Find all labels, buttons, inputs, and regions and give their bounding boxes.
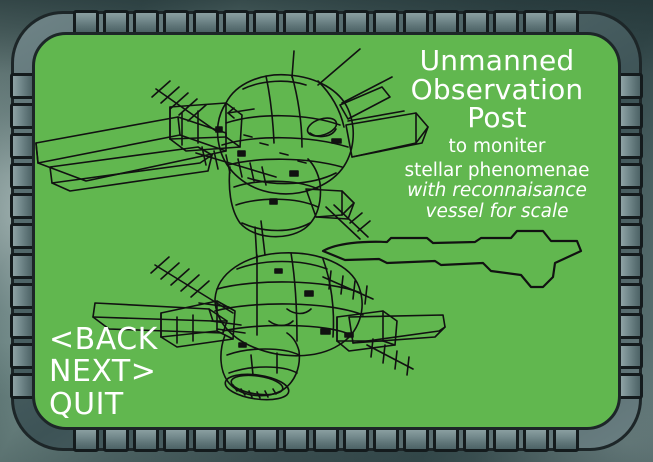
subtitle-line-1: to moniter — [382, 137, 612, 157]
frame-segment — [553, 427, 579, 452]
frame-segment — [283, 427, 309, 452]
menu-item-quit[interactable]: QUIT — [49, 389, 158, 421]
frame-segment — [618, 343, 643, 369]
title-text-block: Unmanned Observation Post to moniter ste… — [382, 47, 612, 223]
frame-segment — [253, 427, 279, 452]
frame-segment — [223, 427, 249, 452]
frame-segment — [618, 73, 643, 99]
frame-segment — [403, 427, 429, 452]
frame-segment — [373, 427, 399, 452]
frame-segment — [523, 427, 549, 452]
frame-segment — [618, 193, 643, 219]
navigation-menu: <BACK NEXT> QUIT — [49, 324, 158, 421]
frame-segment — [433, 427, 459, 452]
frame-segment — [163, 427, 189, 452]
frame-segment — [133, 427, 159, 452]
subtitle-line-4-italic: vessel for scale — [382, 202, 612, 223]
frame-segment — [313, 427, 339, 452]
frame-segment — [618, 223, 643, 249]
frame-segment — [618, 283, 643, 309]
frame-segment — [193, 427, 219, 452]
frame-segment — [618, 253, 643, 279]
menu-item-next[interactable]: NEXT> — [49, 356, 158, 388]
frame-segment — [618, 133, 643, 159]
frame-segment — [343, 427, 369, 452]
game-screen: Unmanned Observation Post to moniter ste… — [0, 0, 653, 462]
menu-item-back[interactable]: <BACK — [49, 324, 158, 356]
subtitle-line-3-italic: with reconnaisance — [382, 181, 612, 202]
title-line-2: Observation — [382, 76, 612, 105]
subtitle-line-2: stellar phenomenae — [382, 161, 612, 181]
frame-segment — [618, 103, 643, 129]
frame-segment — [463, 427, 489, 452]
frame-segment — [618, 373, 643, 399]
frame-segment — [493, 427, 519, 452]
title-line-3: Post — [382, 104, 612, 133]
frame-segment — [103, 427, 129, 452]
frame-segment — [618, 313, 643, 339]
frame-segment — [618, 163, 643, 189]
frame-segment — [73, 427, 99, 452]
title-line-1: Unmanned — [382, 47, 612, 76]
